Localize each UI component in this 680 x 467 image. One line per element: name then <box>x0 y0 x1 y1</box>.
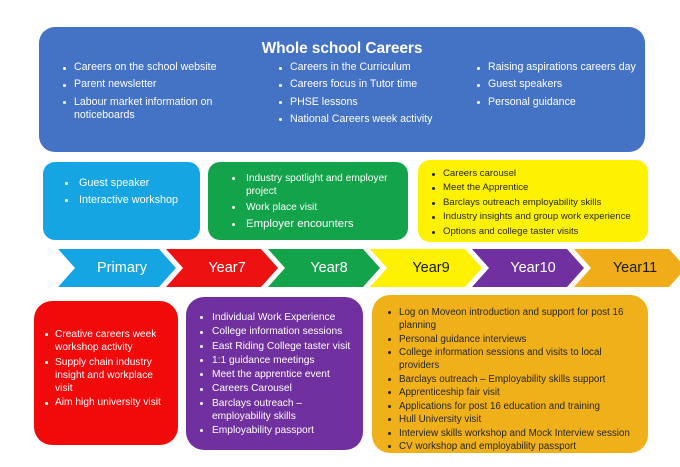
primary-activities-box: Guest speaker Interactive workshop <box>43 162 200 240</box>
list-item: Work place visit <box>224 201 400 214</box>
list-item: Individual Work Experience <box>198 311 357 324</box>
header-column-1: Careers on the school website Parent new… <box>39 61 269 130</box>
creative-careers-box: Creative careers week workshop activity … <box>34 301 178 445</box>
whole-school-careers-panel: Whole school Careers Careers on the scho… <box>39 27 645 152</box>
list-item: Industry spotlight and employer project <box>224 172 400 199</box>
list-item: Raising aspirations careers day <box>475 61 645 75</box>
year10-programme-list: Individual Work Experience College infor… <box>198 311 357 437</box>
header-column-1-list: Careers on the school website Parent new… <box>61 61 269 123</box>
year9-activities-list: Careers carousel Meet the Apprentice Bar… <box>430 168 642 238</box>
year-group-timeline: Primary Year7 Year8 Year9 Year10 Year11 <box>58 249 633 287</box>
timeline-stage-year8[interactable]: Year8 <box>268 249 380 287</box>
header-column-2: Careers in the Curriculum Careers focus … <box>269 61 469 130</box>
page-title: Whole school Careers <box>39 27 645 61</box>
list-item: Personal guidance <box>475 96 645 110</box>
list-item: Employability passport <box>198 424 357 437</box>
ks3-activities-box: Industry spotlight and employer project … <box>208 162 408 240</box>
list-item: Careers in the Curriculum <box>277 61 469 75</box>
list-item: Guest speakers <box>475 78 645 92</box>
list-item: Careers on the school website <box>61 61 269 75</box>
list-item: College information sessions and visits … <box>386 346 642 372</box>
list-item: Log on Moveon introduction and support f… <box>386 306 642 332</box>
year11-programme-box: Log on Moveon introduction and support f… <box>372 295 648 453</box>
year11-programme-list: Log on Moveon introduction and support f… <box>386 306 642 453</box>
list-item: Supply chain industry insight and workpl… <box>43 356 170 396</box>
whole-school-careers-columns: Careers on the school website Parent new… <box>39 61 645 130</box>
list-item: Parent newsletter <box>61 78 269 92</box>
primary-activities-list: Guest speaker Interactive workshop <box>59 176 192 207</box>
year10-programme-content: Individual Work Experience College infor… <box>186 297 363 437</box>
ks3-activities-content: Industry spotlight and employer project … <box>208 162 408 232</box>
list-item: Careers focus in Tutor time <box>277 78 469 92</box>
list-item: Aim high university visit <box>43 396 170 409</box>
timeline-stage-year9[interactable]: Year9 <box>370 249 482 287</box>
list-item: Options and college taster visits <box>430 226 642 238</box>
list-item: Apprenticeship fair visit <box>386 386 642 399</box>
year9-activities-box: Careers carousel Meet the Apprentice Bar… <box>418 160 648 242</box>
header-column-3: Raising aspirations careers day Guest sp… <box>469 61 645 130</box>
list-item: East Riding College taster visit <box>198 340 357 353</box>
list-item: Applications for post 16 education and t… <box>386 400 642 413</box>
list-item: Hull University visit <box>386 413 642 426</box>
list-item: Personal guidance interviews <box>386 333 642 346</box>
list-item: Guest speaker <box>59 176 192 190</box>
creative-careers-content: Creative careers week workshop activity … <box>34 301 178 410</box>
list-item: Barclays outreach employability skills <box>430 197 642 209</box>
timeline-stage-year10[interactable]: Year10 <box>472 249 584 287</box>
list-item: Meet the Apprentice <box>430 182 642 194</box>
list-item: Creative careers week workshop activity <box>43 328 170 355</box>
list-item: Careers Carousel <box>198 382 357 395</box>
list-item: Interactive workshop <box>59 193 192 207</box>
year9-activities-content: Careers carousel Meet the Apprentice Bar… <box>418 160 648 238</box>
list-item: Barclays outreach – Employability skills… <box>386 373 642 386</box>
list-item: Industry insights and group work experie… <box>430 211 642 223</box>
timeline-stage-year11[interactable]: Year11 <box>574 249 680 287</box>
timeline-stage-primary[interactable]: Primary <box>58 249 176 287</box>
list-item: 1:1 guidance meetings <box>198 354 357 367</box>
list-item: College information sessions <box>198 325 357 338</box>
list-item: Interview skills workshop and Mock Inter… <box>386 427 642 440</box>
header-column-2-list: Careers in the Curriculum Careers focus … <box>277 61 469 127</box>
year11-programme-content: Log on Moveon introduction and support f… <box>372 295 648 453</box>
header-column-3-list: Raising aspirations careers day Guest sp… <box>475 61 645 109</box>
list-item: Employer encounters <box>224 217 400 232</box>
list-item: National Careers week activity <box>277 113 469 127</box>
timeline-stage-year7[interactable]: Year7 <box>166 249 278 287</box>
creative-careers-list: Creative careers week workshop activity … <box>43 328 170 410</box>
year10-programme-box: Individual Work Experience College infor… <box>186 297 363 450</box>
list-item: Careers carousel <box>430 168 642 180</box>
list-item: Barclays outreach – employability skills <box>198 397 357 424</box>
list-item: Meet the apprentice event <box>198 368 357 381</box>
careers-programme-diagram: Whole school Careers Careers on the scho… <box>0 0 680 467</box>
ks3-activities-list: Industry spotlight and employer project … <box>224 172 400 232</box>
primary-activities-content: Guest speaker Interactive workshop <box>43 162 200 207</box>
list-item: CV workshop and employability passport <box>386 440 642 453</box>
list-item: PHSE lessons <box>277 96 469 110</box>
list-item: Labour market information on noticeboard… <box>61 96 269 124</box>
